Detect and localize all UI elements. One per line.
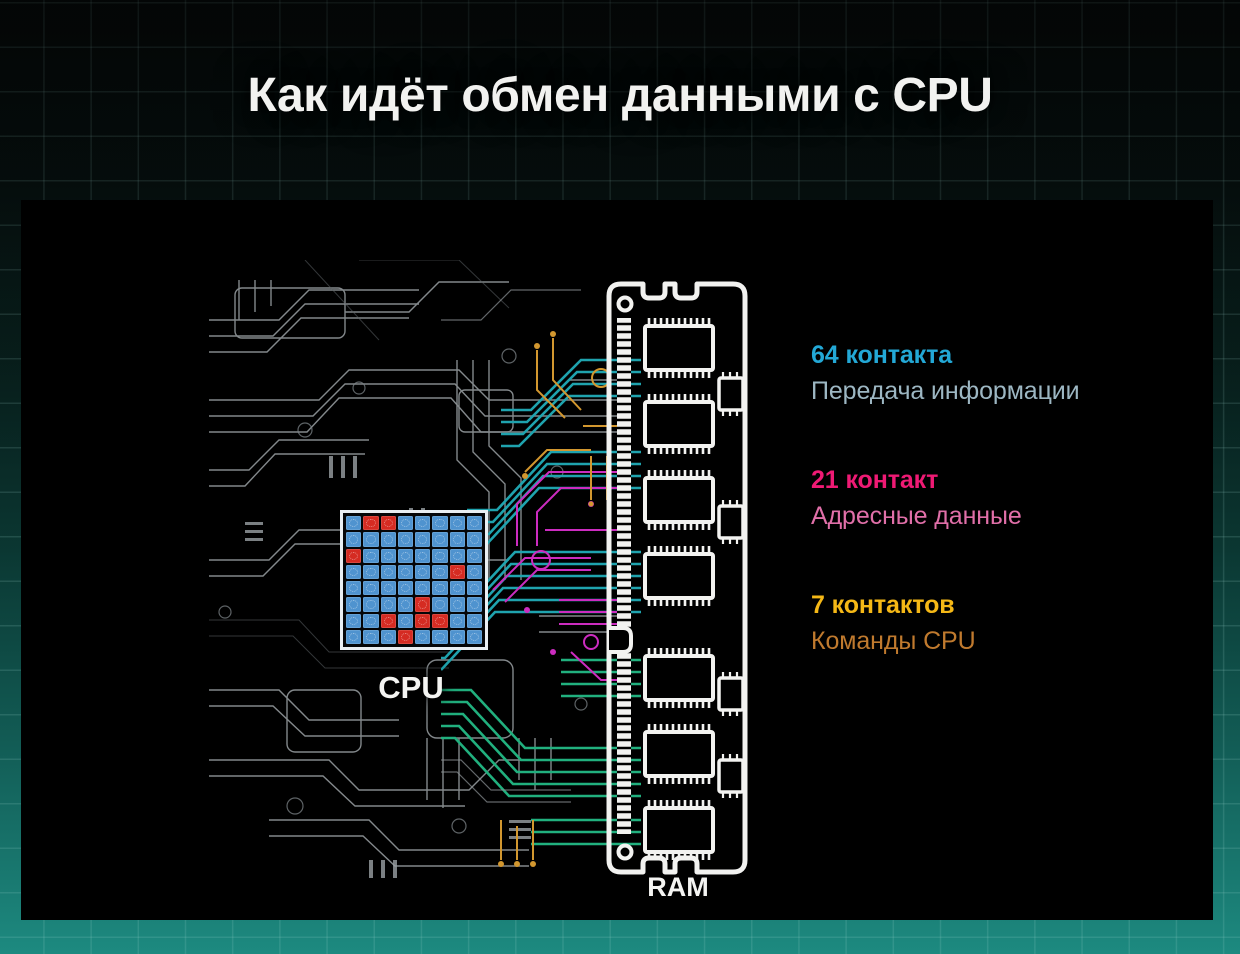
die-cell <box>415 516 430 530</box>
die-cell <box>450 597 465 611</box>
ram-module <box>603 278 751 878</box>
die-cell <box>415 565 430 579</box>
die-cell <box>398 549 413 563</box>
die-cell <box>432 614 447 628</box>
legend-command-description: Команды CPU <box>811 625 1191 658</box>
die-cell <box>381 549 396 563</box>
die-cell <box>450 532 465 546</box>
die-cell <box>363 516 378 530</box>
page-title: Как идёт обмен данными с CPU <box>0 68 1240 123</box>
die-cell <box>415 614 430 628</box>
die-cell <box>346 532 361 546</box>
ram-hole-bottom <box>619 846 632 859</box>
die-cell <box>363 532 378 546</box>
legend-data-count: 64 контакта <box>811 340 1191 371</box>
die-cell <box>432 581 447 595</box>
die-cell <box>381 597 396 611</box>
legend-data-description: Передача информации <box>811 375 1191 408</box>
die-cell <box>363 581 378 595</box>
cpu-label: CPU <box>301 670 521 706</box>
legend-item-command-bus: 7 контактов Команды CPU <box>811 590 1191 658</box>
legend-address-count: 21 контакт <box>811 465 1191 496</box>
die-cell <box>432 565 447 579</box>
die-cell <box>398 630 413 644</box>
die-cell <box>450 630 465 644</box>
die-cell <box>346 549 361 563</box>
legend-item-address-bus: 21 контакт Адресные данные <box>811 465 1191 533</box>
die-cell <box>467 549 482 563</box>
die-cell <box>467 565 482 579</box>
die-cell <box>450 565 465 579</box>
legend-address-description: Адресные данные <box>811 500 1191 533</box>
die-cell <box>432 549 447 563</box>
legend-item-data-bus: 64 контакта Передача информации <box>811 340 1191 408</box>
die-cell <box>415 597 430 611</box>
die-cell <box>363 549 378 563</box>
die-cell <box>398 565 413 579</box>
ram-memory-chips <box>645 318 713 860</box>
die-cell <box>467 630 482 644</box>
cpu-die <box>340 510 488 650</box>
die-cell <box>346 597 361 611</box>
die-cell <box>415 549 430 563</box>
content-panel: CPU <box>21 200 1213 920</box>
die-cell <box>467 532 482 546</box>
die-cell <box>346 565 361 579</box>
die-cell <box>432 630 447 644</box>
die-cell <box>415 581 430 595</box>
die-cell <box>432 597 447 611</box>
die-cell <box>398 516 413 530</box>
die-cell <box>381 581 396 595</box>
ram-hole-top <box>619 298 632 311</box>
die-cell <box>363 565 378 579</box>
legend-command-count: 7 контактов <box>811 590 1191 621</box>
die-cell <box>398 581 413 595</box>
die-cell <box>415 630 430 644</box>
ram-small-chips <box>719 372 743 798</box>
die-cell <box>346 614 361 628</box>
die-cell <box>381 516 396 530</box>
die-cell <box>450 614 465 628</box>
cpu-die-grid <box>343 513 485 647</box>
die-cell <box>381 532 396 546</box>
legend: 64 контакта Передача информации 21 конта… <box>811 340 1191 657</box>
die-cell <box>398 614 413 628</box>
die-cell <box>381 614 396 628</box>
die-cell <box>450 581 465 595</box>
die-cell <box>467 614 482 628</box>
die-cell <box>467 581 482 595</box>
die-cell <box>398 597 413 611</box>
die-cell <box>346 516 361 530</box>
ram-module-svg <box>603 278 751 878</box>
die-cell <box>415 532 430 546</box>
die-cell <box>432 532 447 546</box>
die-cell <box>363 614 378 628</box>
die-cell <box>381 565 396 579</box>
die-cell <box>346 630 361 644</box>
die-cell <box>363 630 378 644</box>
die-cell <box>381 630 396 644</box>
die-cell <box>450 516 465 530</box>
die-cell <box>363 597 378 611</box>
die-cell <box>398 532 413 546</box>
die-cell <box>450 549 465 563</box>
ram-label: RAM <box>593 872 763 903</box>
die-cell <box>467 597 482 611</box>
die-cell <box>467 516 482 530</box>
die-cell <box>346 581 361 595</box>
die-cell <box>432 516 447 530</box>
